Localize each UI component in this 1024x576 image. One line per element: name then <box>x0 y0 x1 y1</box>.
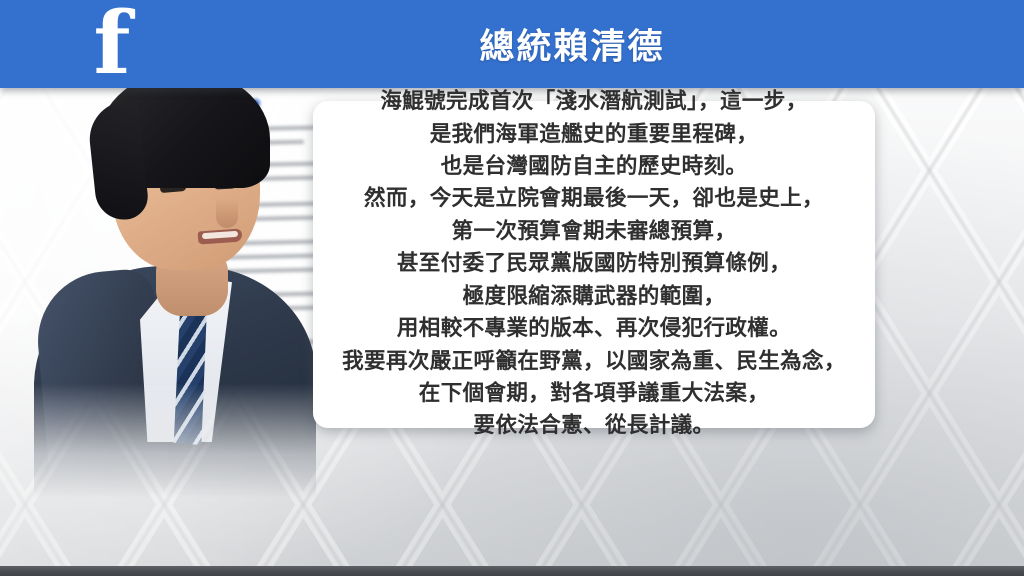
page-title: 總統賴清德 <box>0 19 1024 70</box>
quote-line: 我要再次嚴正呼籲在野黨，以國家為重、民生為念， <box>313 346 875 378</box>
quote-text: 海鯤號完成首次「淺水潛航測試」，這一步，是我們海軍造艦史的重要里程碑，也是台灣國… <box>313 86 875 442</box>
quote-line: 海鯤號完成首次「淺水潛航測試」，這一步， <box>313 86 875 118</box>
portrait-nose <box>216 198 238 228</box>
quote-card: 海鯤號完成首次「淺水潛航測試」，這一步，是我們海軍造艦史的重要里程碑，也是台灣國… <box>313 101 875 428</box>
portrait-lai-ching-te <box>28 58 318 498</box>
quote-line: 第一次預算會期未審總預算， <box>313 216 875 248</box>
header-banner: f 總統賴清德 <box>0 0 1024 88</box>
quote-line: 也是台灣國防自主的歷史時刻。 <box>313 151 875 183</box>
quote-line: 甚至付委了民眾黨版國防特別預算條例， <box>313 248 875 280</box>
quote-line: 要依法合憲、從長計議。 <box>313 410 875 442</box>
quote-line: 是我們海軍造艦史的重要里程碑， <box>313 119 875 151</box>
bottom-bar <box>0 566 1024 576</box>
broadcast-graphic-stage: f 總統賴清德 海鯤號完成首次「淺水潛航測試」，這一步，是我們海軍造艦史的重要里… <box>0 0 1024 576</box>
quote-line: 極度限縮添購武器的範圍， <box>313 281 875 313</box>
quote-line: 用相較不專業的版本、再次侵犯行政權。 <box>313 313 875 345</box>
quote-line: 在下個會期，對各項爭議重大法案， <box>313 378 875 410</box>
quote-line: 然而，今天是立院會期最後一天，卻也是史上， <box>313 183 875 215</box>
